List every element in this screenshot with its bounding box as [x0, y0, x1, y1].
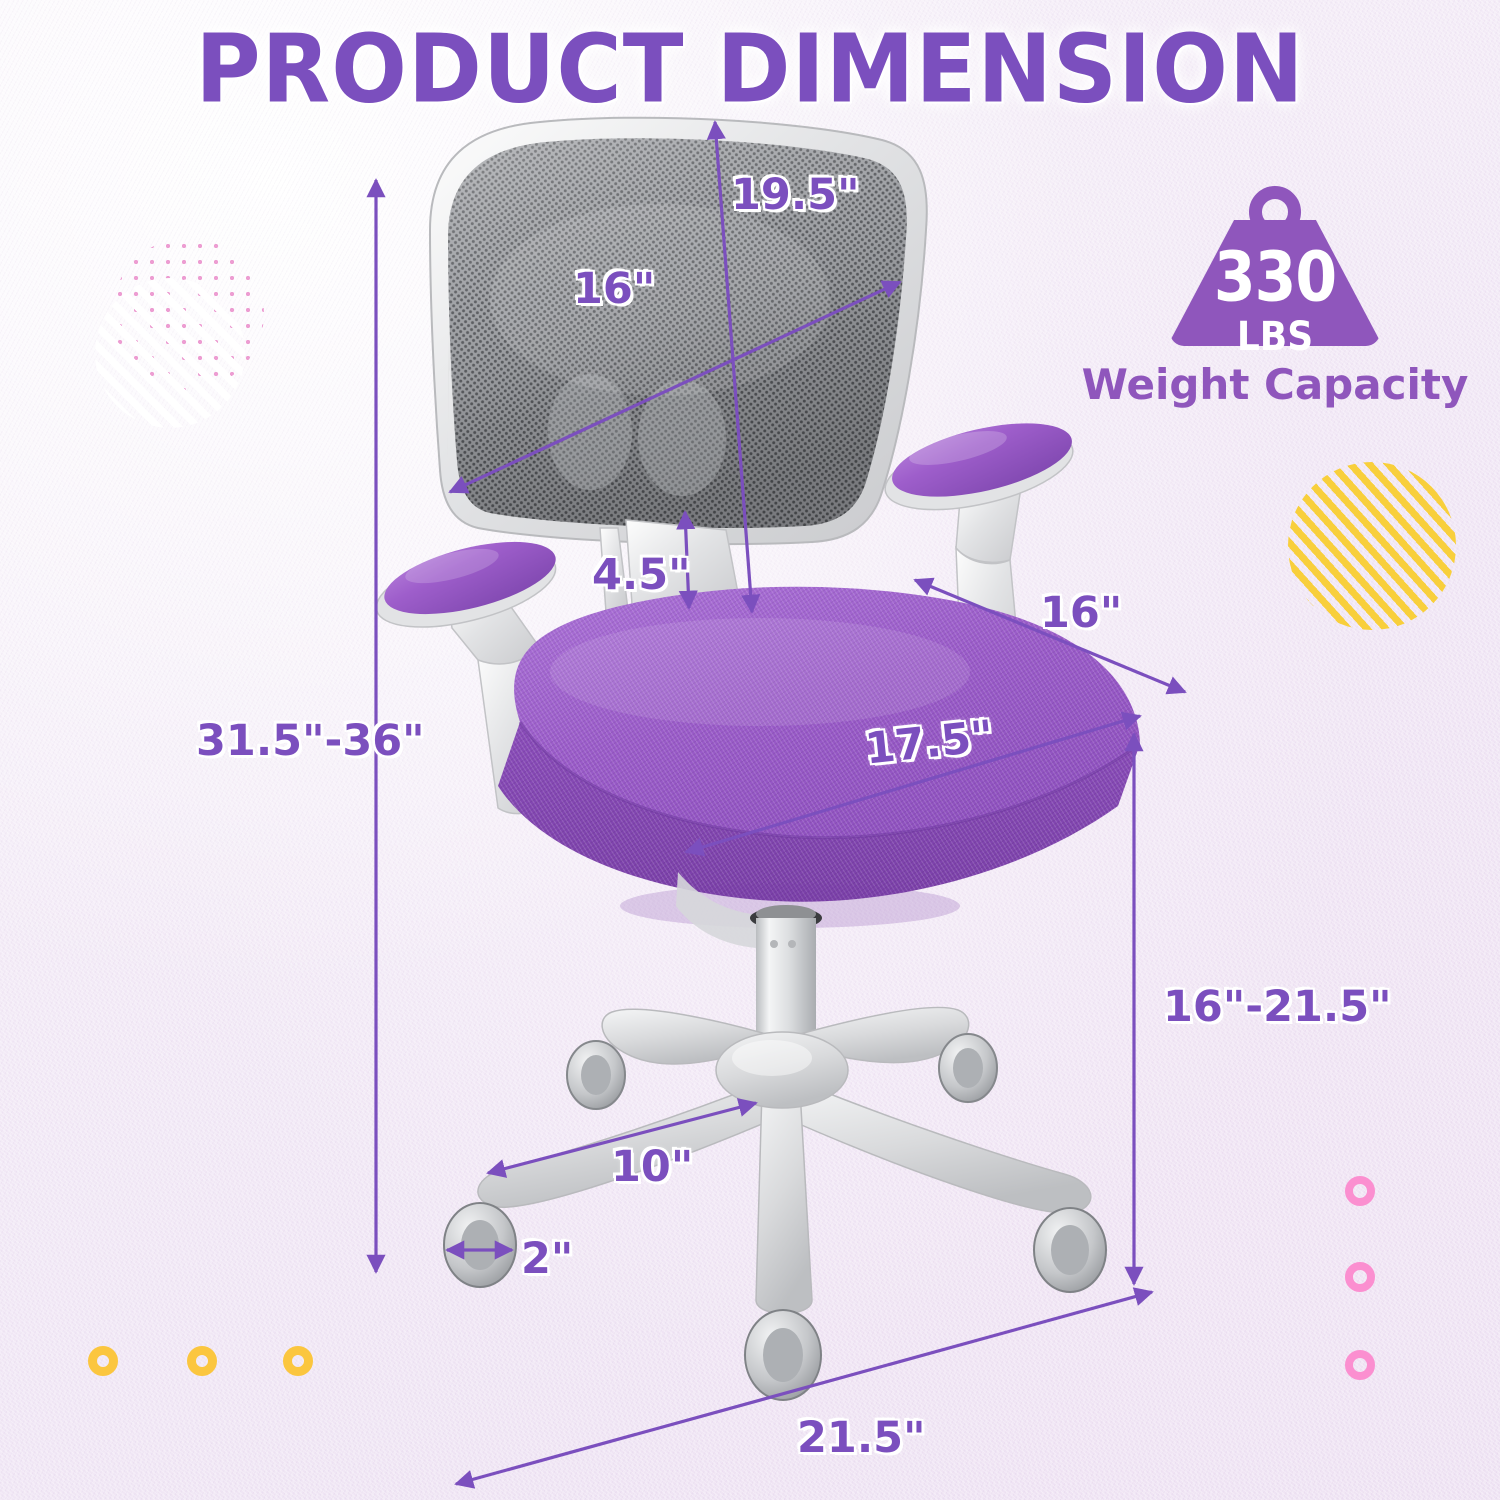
dimension-label-seat-depth: 16" — [1040, 588, 1122, 638]
dimension-label-base-arm: 10" — [611, 1142, 693, 1192]
dimension-label-overall-height: 31.5"-36" — [196, 716, 425, 766]
dimension-label-back-width: 16" — [573, 264, 655, 314]
chair-base — [444, 1007, 1106, 1400]
dimension-label-seat-height: 16"-21.5" — [1163, 982, 1392, 1032]
dimension-label-caster: 2" — [521, 1234, 573, 1284]
caster-wheel — [444, 1203, 516, 1287]
caster-wheel — [939, 1034, 997, 1102]
infographic-canvas: PRODUCT DIMENSION 330 LBS Weight Capacit… — [0, 0, 1500, 1500]
caster-wheel — [1034, 1208, 1106, 1292]
caster-wheel — [567, 1041, 625, 1109]
dimension-label-armrest-gap: 4.5" — [592, 550, 691, 600]
dimension-label-back-height: 19.5" — [731, 170, 860, 220]
dimension-label-base-width: 21.5" — [797, 1413, 926, 1463]
